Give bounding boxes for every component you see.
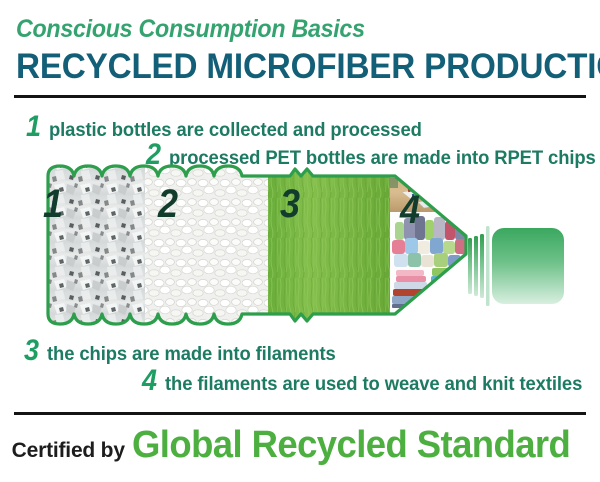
step-number-4: 4 (142, 366, 157, 396)
step-text-4: the filaments are used to weave and knit… (165, 375, 582, 394)
bottle-neck-threads (468, 226, 490, 306)
step-text-1: plastic bottles are collected and proces… (49, 121, 422, 140)
certification-footer: Certified byGlobal Recycled Standard (0, 424, 600, 467)
divider-top (14, 95, 586, 98)
step-caption-3: 3 the chips are made into filaments (24, 336, 344, 366)
step-number-1: 1 (26, 112, 41, 142)
towel-pile (392, 216, 476, 308)
certified-by-label: Certified by (12, 439, 125, 462)
page-title: RECYCLED MICROFIBER PRODUCTION (16, 47, 600, 87)
bottle-svg (0, 158, 600, 333)
infographic-root: Conscious Consumption Basics RECYCLED MI… (0, 0, 600, 482)
bottle-cap (492, 228, 564, 304)
step-number-3: 3 (24, 336, 39, 366)
bottle-body-panels (20, 158, 476, 333)
subtitle: Conscious Consumption Basics (16, 15, 365, 44)
step-text-3: the chips are made into filaments (47, 345, 336, 364)
panel-1-plastic-flakes (20, 158, 145, 333)
step-caption-1: 1 plastic bottles are collected and proc… (26, 112, 433, 142)
standard-name: Global Recycled Standard (132, 424, 570, 467)
step-caption-4: 4 the filaments are used to weave and kn… (142, 366, 595, 396)
recycled-pet-bottle-diagram: 1 2 3 4 (0, 158, 600, 333)
divider-bottom (14, 412, 586, 415)
panel-3-filament (268, 158, 390, 333)
panel-2-rpet-chips (145, 158, 268, 333)
